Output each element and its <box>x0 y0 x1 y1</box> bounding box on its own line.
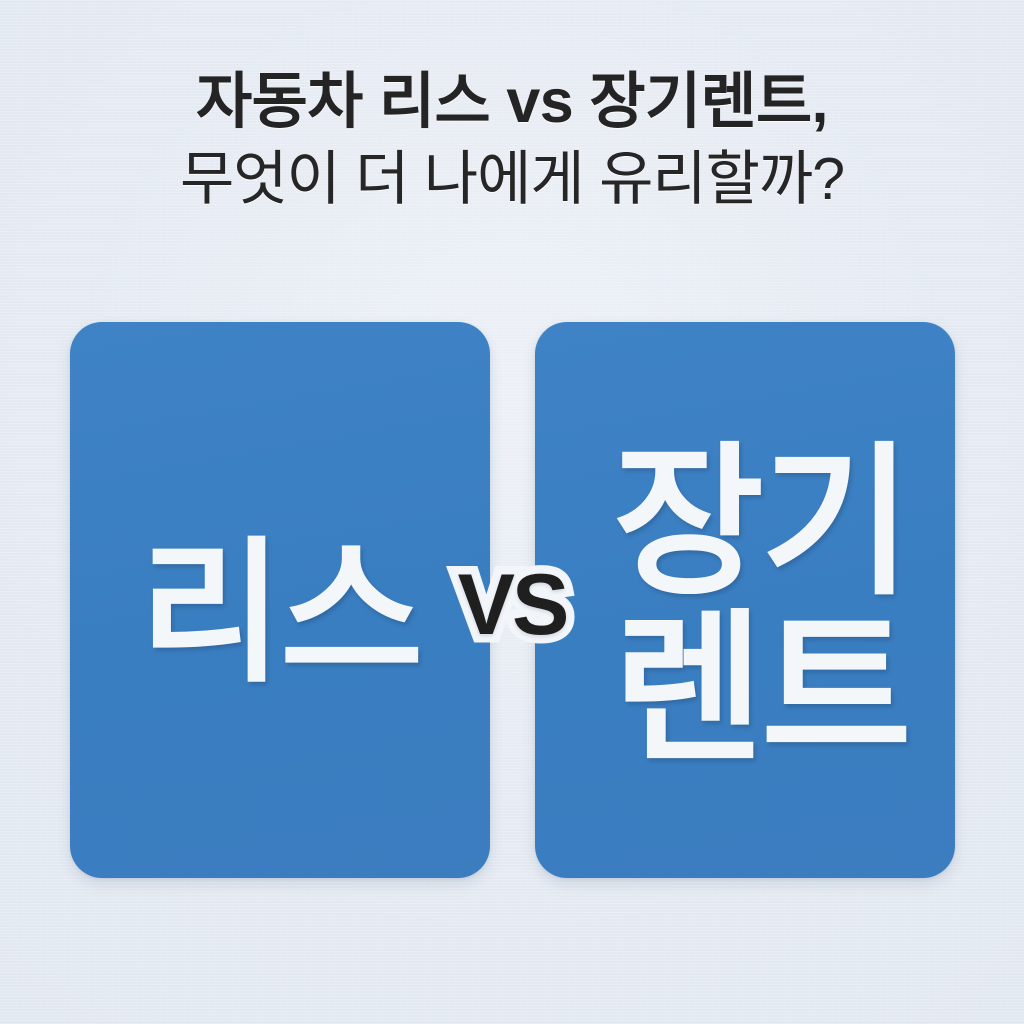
comparison-card-lease[interactable]: 리스 <box>70 322 490 878</box>
long-term-rent-card-label: 장기 렌트 <box>613 439 909 774</box>
vs-badge: VS <box>458 562 567 648</box>
poster-canvas: 자동차 리스 vs 장기렌트, 무엇이 더 나에게 유리할까? 리스 장기 렌트… <box>0 0 1024 1024</box>
lease-card-label: 리스 <box>139 538 420 691</box>
comparison-card-long-term-rent[interactable]: 장기 렌트 <box>535 322 955 878</box>
long-term-rent-label-line-1: 장기 <box>613 439 909 606</box>
headline-block: 자동차 리스 vs 장기렌트, 무엇이 더 나에게 유리할까? <box>0 70 1024 210</box>
long-term-rent-label-line-2: 렌트 <box>613 606 909 773</box>
headline-line-1: 자동차 리스 vs 장기렌트, <box>0 70 1024 133</box>
headline-line-2: 무엇이 더 나에게 유리할까? <box>0 149 1024 210</box>
